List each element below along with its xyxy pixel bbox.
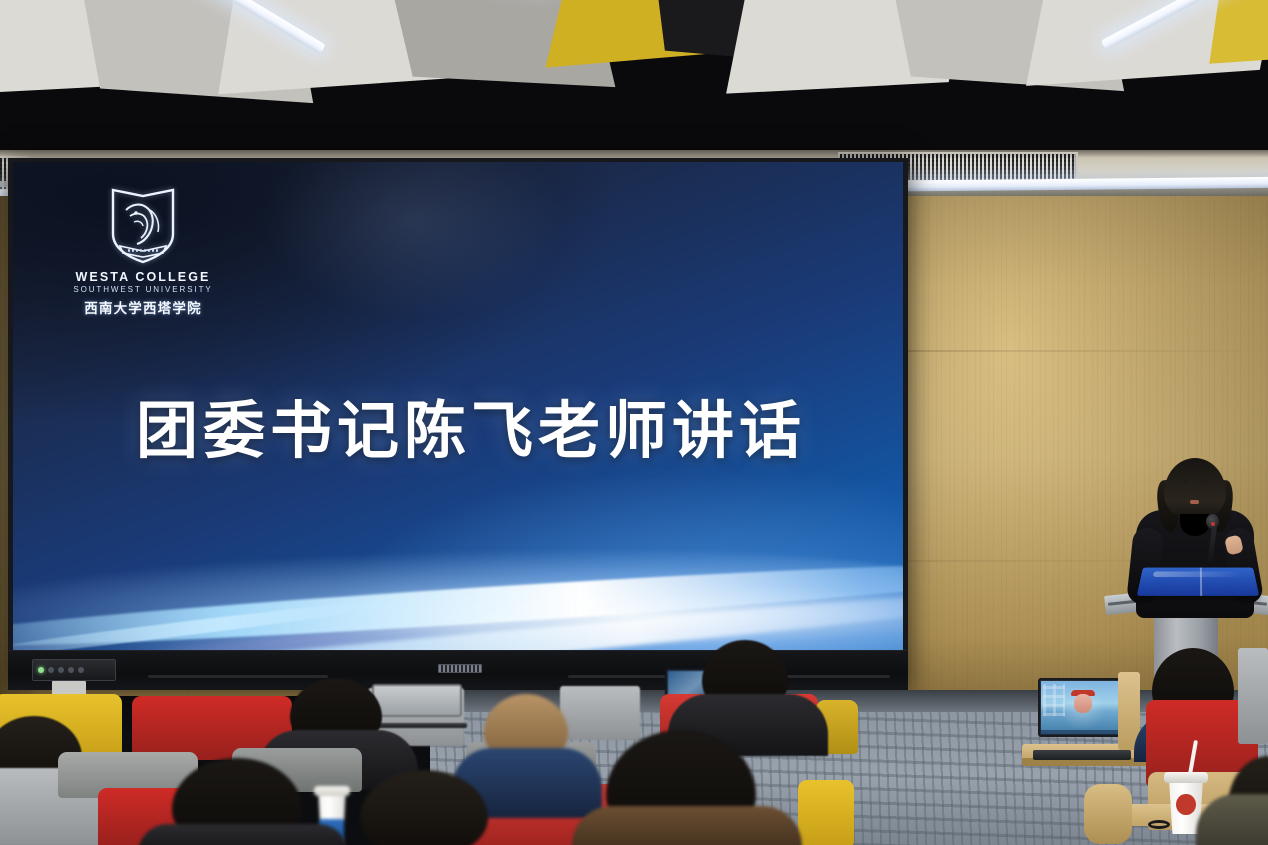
seat-partition — [560, 686, 640, 740]
logo-chinese-name: 西南大学西塔学院 — [73, 297, 213, 317]
bezel-seam — [148, 675, 328, 678]
slide-surface: WESTA COLLEGE SOUTHWEST UNIVERSITY 西南大学西… — [13, 162, 903, 652]
blue-folder — [1137, 568, 1259, 596]
speaker-mouth — [1190, 500, 1199, 504]
microphone-indicator — [1211, 522, 1215, 526]
logo-university-name: SOUTHWEST UNIVERSITY — [73, 285, 213, 294]
laptop-base — [367, 723, 468, 728]
wallpaper-character — [1074, 694, 1092, 713]
display-label-tag — [52, 681, 86, 695]
laptop-keyboard-base — [1033, 750, 1132, 760]
folder-highlight — [1152, 571, 1243, 577]
slide-logo: WESTA COLLEGE SOUTHWEST UNIVERSITY 西南大学西… — [73, 186, 213, 317]
attendee-shoulders — [572, 806, 802, 845]
cup-lid — [1164, 772, 1209, 783]
screen-glare — [262, 162, 565, 319]
control-button-icon[interactable] — [78, 667, 84, 673]
speaker-eye — [1200, 480, 1206, 483]
speaker-eye — [1182, 480, 1188, 483]
seat-partition — [1238, 648, 1268, 744]
control-button-icon[interactable] — [48, 667, 54, 673]
ceiling-panel-yellow — [1209, 0, 1268, 64]
ceiling — [0, 0, 1268, 152]
speaker-hair — [1164, 458, 1226, 520]
laptop-open — [372, 684, 462, 728]
slide-aurora-graphic — [13, 456, 903, 652]
control-button-icon[interactable] — [58, 667, 64, 673]
cup-brand-logo-icon — [1176, 794, 1195, 815]
taskbar — [1040, 730, 1124, 736]
laptop-open[interactable] — [1038, 678, 1126, 760]
cup-lid — [314, 786, 350, 796]
westa-college-crest-icon — [110, 186, 176, 264]
logo-english-name: WESTA COLLEGE — [73, 270, 213, 284]
speaker-at-podium — [1128, 458, 1260, 618]
laptop-screen — [1038, 678, 1126, 737]
chair-yellow — [798, 780, 854, 845]
display-control-panel[interactable] — [32, 659, 116, 681]
hair-tie — [1148, 820, 1170, 829]
control-button-icon[interactable] — [68, 667, 74, 673]
projection-display[interactable]: WESTA COLLEGE SOUTHWEST UNIVERSITY 西南大学西… — [8, 158, 908, 690]
attendee-shoulders — [138, 824, 348, 845]
lecture-hall-photo: WESTA COLLEGE SOUTHWEST UNIVERSITY 西南大学西… — [0, 0, 1268, 845]
power-indicator-icon — [38, 667, 44, 673]
display-brand-logo-icon — [438, 664, 482, 673]
bezel-seam — [780, 675, 890, 678]
desk-leg — [1084, 784, 1132, 844]
desktop-icons — [1043, 684, 1065, 716]
laptop-screen — [372, 684, 462, 717]
